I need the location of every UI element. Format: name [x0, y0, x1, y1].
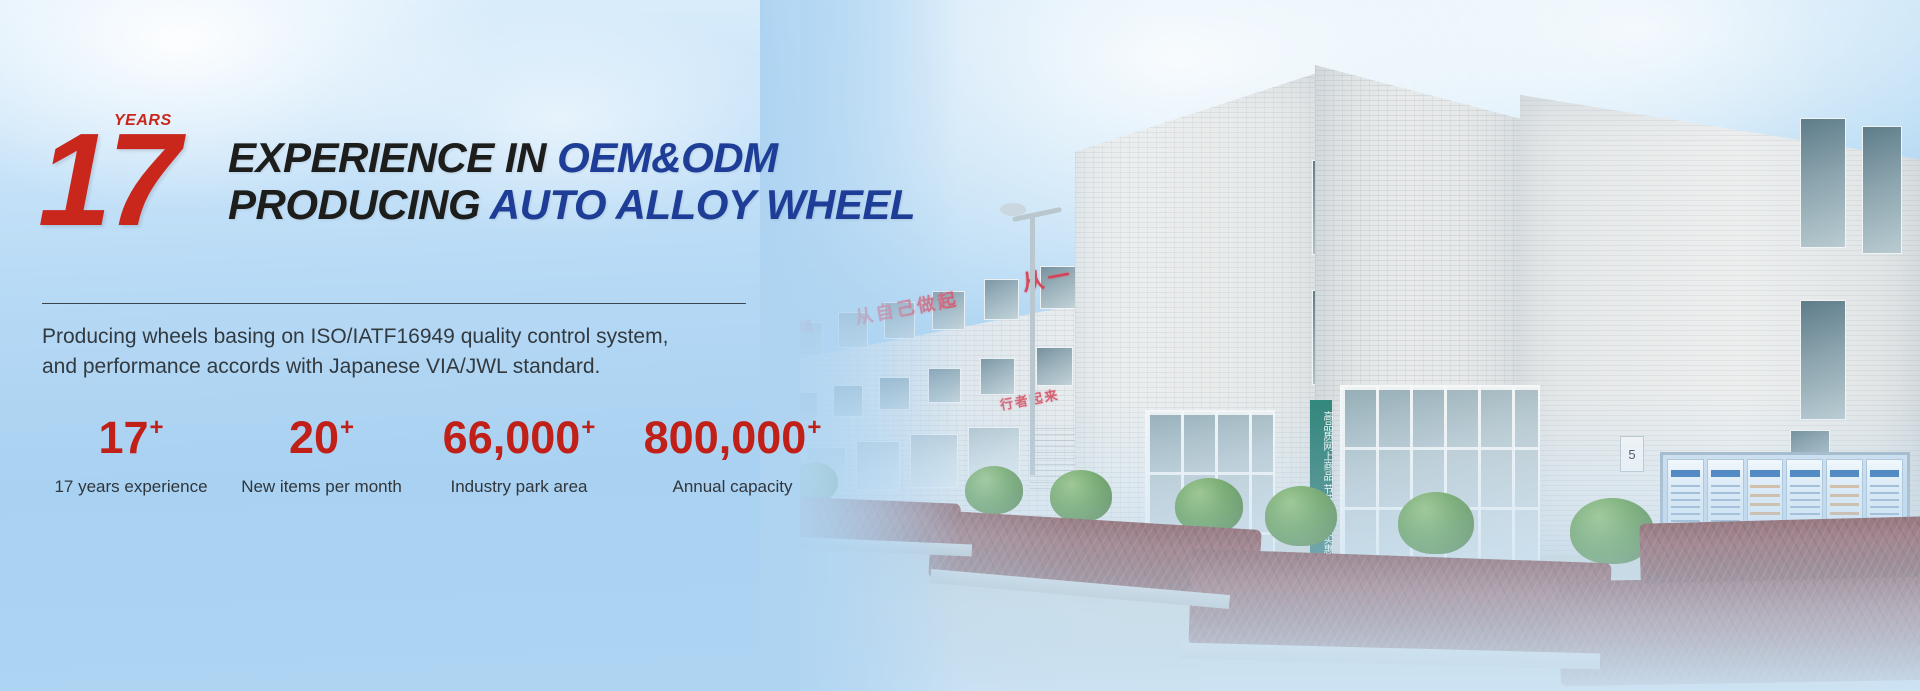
years-badge: YEARS 17	[42, 108, 192, 236]
stat-label: Industry park area	[429, 477, 609, 497]
stat-suffix: +	[807, 414, 821, 441]
headline-line-1: EXPERIENCE IN OEM&ODM	[228, 134, 915, 181]
stat-item: 66,000+ Industry park area	[421, 415, 617, 497]
banner-content: YEARS 17 EXPERIENCE IN OEM&ODM PRODUCING…	[0, 0, 820, 691]
stat-number: 800,000	[644, 412, 807, 463]
stat-value: 800,000+	[625, 415, 840, 460]
description: Producing wheels basing on ISO/IATF16949…	[42, 322, 762, 382]
stat-label: Annual capacity	[625, 477, 840, 497]
promo-banner: 从一点一滴做起 从自己做起 保护环境 行者起来 高品质网上商品	[0, 0, 1920, 691]
headline-block: YEARS 17 EXPERIENCE IN OEM&ODM PRODUCING…	[42, 108, 915, 236]
headline-line-2-dark: PRODUCING	[228, 181, 490, 228]
stat-value: 66,000+	[429, 415, 609, 460]
stat-number: 20	[289, 412, 339, 463]
years-badge-number: 17	[38, 114, 177, 246]
headline: EXPERIENCE IN OEM&ODM PRODUCING AUTO ALL…	[228, 134, 915, 228]
stat-item: 800,000+ Annual capacity	[617, 415, 848, 497]
headline-line-2-blue: AUTO ALLOY WHEEL	[490, 181, 915, 228]
stat-label: 17 years experience	[48, 477, 214, 497]
headline-line-1-blue: OEM&ODM	[557, 134, 778, 181]
window	[1862, 126, 1902, 254]
stat-number: 66,000	[443, 412, 581, 463]
description-line-2: and performance accords with Japanese VI…	[42, 352, 762, 382]
stat-label: New items per month	[230, 477, 413, 497]
stat-item: 17+ 17 years experience	[40, 415, 222, 497]
stat-suffix: +	[340, 414, 354, 441]
description-line-1: Producing wheels basing on ISO/IATF16949…	[42, 322, 762, 352]
stat-suffix: +	[581, 414, 595, 441]
stat-number: 17	[98, 412, 148, 463]
headline-line-2: PRODUCING AUTO ALLOY WHEEL	[228, 181, 915, 228]
headline-divider	[42, 303, 746, 304]
stats-row: 17+ 17 years experience 20+ New items pe…	[40, 415, 848, 497]
stat-suffix: +	[150, 414, 164, 441]
stat-item: 20+ New items per month	[222, 415, 421, 497]
window	[1800, 118, 1846, 248]
stat-value: 20+	[230, 415, 413, 460]
stat-value: 17+	[48, 415, 214, 460]
headline-line-1-dark: EXPERIENCE IN	[228, 134, 557, 181]
